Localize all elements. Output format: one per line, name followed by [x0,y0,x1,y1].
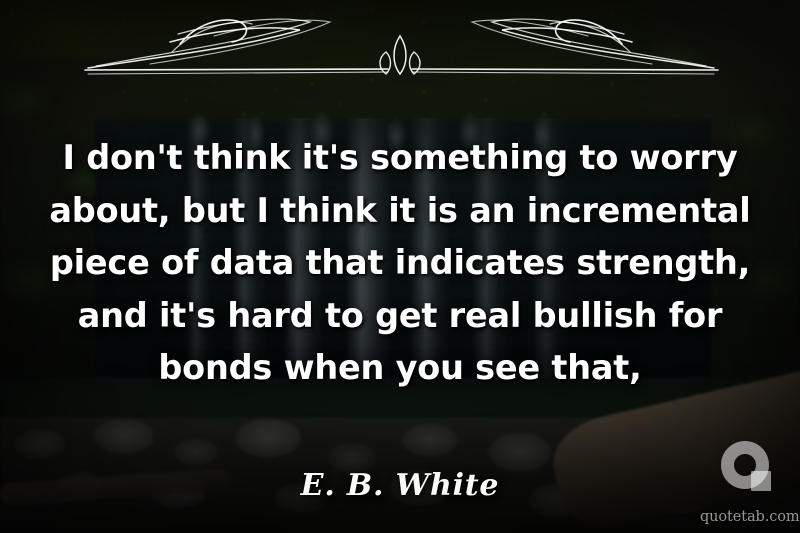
card-content: I don't think it's something to worry ab… [0,0,800,533]
flourish-ornament [0,8,800,100]
quote-author[interactable]: E. B. White [0,468,800,503]
quote-card: I don't think it's something to worry ab… [0,0,800,533]
quote-text: I don't think it's something to worry ab… [38,132,762,395]
watermark-site-label[interactable]: quotetab.com [700,509,792,525]
